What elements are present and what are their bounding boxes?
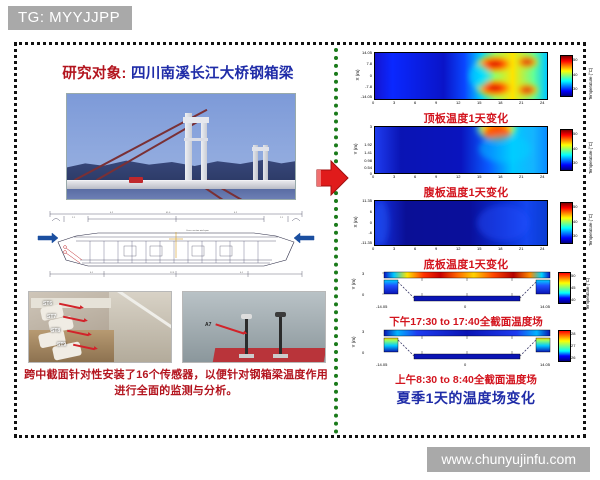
colorbar-tick: 30 — [573, 233, 577, 238]
colorbar-3 — [560, 202, 573, 244]
xtick: 6 — [414, 246, 416, 251]
page-title-prefix: 研究对象: — [62, 66, 126, 82]
xtick: 6 — [414, 174, 416, 179]
colorbar-tick: 26 — [571, 355, 575, 360]
colorbar-title: Temperature (°C) — [588, 214, 593, 246]
colorbar-cs1 — [558, 272, 571, 304]
ytick: 3 — [362, 329, 364, 334]
panel-divider — [334, 48, 338, 434]
xtick: 9 — [435, 100, 437, 105]
axis-label-y-cs1: Y (m) — [351, 279, 356, 290]
xtick: 24 — [540, 174, 544, 179]
heatmap-canvas-web-plate — [375, 127, 547, 173]
colorbar-tick: 40 — [571, 297, 575, 302]
xtick: 21 — [519, 100, 523, 105]
colorbar-tick: 50 — [573, 131, 577, 136]
ytick: 0 — [354, 171, 372, 176]
colorbar-tick: 50 — [571, 273, 575, 278]
colorbar-tick: 30 — [573, 86, 577, 91]
bridge-deck — [67, 180, 295, 189]
bridge-tower-far — [263, 145, 268, 185]
sensor-label-a7: A7 — [205, 322, 211, 328]
ytick: -14.05 — [354, 94, 372, 99]
colorbar-tick: 40 — [573, 219, 577, 224]
tower-crossbeam — [183, 117, 209, 123]
ytick: 0.98 — [354, 158, 372, 163]
xtick: 0 — [372, 174, 374, 179]
ytick: 6 — [352, 209, 372, 214]
bridge-tower-main — [201, 117, 207, 185]
cross-section-canvas-afternoon — [374, 270, 560, 312]
xtick: 0 — [372, 100, 374, 105]
sensor-head — [241, 314, 252, 319]
heatmap-canvas-bottom-plate — [375, 201, 547, 245]
svg-text:Cross section mid-span: Cross section mid-span — [186, 229, 210, 232]
xtick: 6 — [414, 100, 416, 105]
left-panel: 研究对象: 四川南溪长江大桥钢箱梁 — [20, 48, 332, 432]
xtick: 24 — [540, 100, 544, 105]
ytick: 0 — [354, 73, 372, 78]
watermark: www.chunyujinfu.com — [427, 447, 590, 472]
left-caption: 跨中截面针对性安装了16个传感器，以便针对钢箱梁温度作用进行全面的监测与分析。 — [24, 368, 328, 400]
ytick: 3 — [354, 124, 372, 129]
xtick: 14.05 — [540, 362, 550, 367]
xtick: 21 — [519, 174, 523, 179]
svg-text:4.2: 4.2 — [234, 212, 238, 214]
svg-text:41.0: 41.0 — [166, 212, 171, 214]
xtick: 0 — [464, 362, 466, 367]
box-girder-cross-section-drawing: 4.241.04.2 2.12.1 6.112.56.1 Cross secti… — [28, 208, 324, 280]
tower-crossbeam — [184, 138, 208, 141]
colorbar-tick: 28 — [571, 331, 575, 336]
sensor-label-st7: ST7 — [47, 314, 56, 320]
xtick: 14.05 — [540, 304, 550, 309]
xtick: 15 — [477, 246, 481, 251]
colorbar-1 — [560, 55, 573, 97]
ytick: 0 — [352, 220, 372, 225]
xtick: 18 — [498, 246, 502, 251]
xtick: 12 — [456, 174, 460, 179]
colorbar-tick: 27 — [571, 343, 575, 348]
heatmap-canvas-top-plate — [375, 53, 547, 99]
bridge-tower-far — [253, 145, 258, 185]
suspension-bridge-photo — [66, 93, 296, 200]
colorbar-title: Temperature (°C) — [585, 278, 590, 310]
sensor-installation-photo-deck: A7 — [182, 291, 326, 363]
colorbar-tick: 45 — [571, 285, 575, 290]
svg-text:4.2: 4.2 — [110, 212, 114, 214]
cross-section-caption-afternoon: 下午17:30 to 17:40全截面温度场 — [344, 314, 588, 329]
xtick: -14.05 — [376, 304, 387, 309]
ytick: -6 — [352, 230, 372, 235]
xtick: 0 — [464, 304, 466, 309]
svg-text:2.1: 2.1 — [72, 217, 76, 219]
cross-section-canvas-morning — [374, 328, 560, 370]
colorbar-title: Temperature (°C) — [588, 68, 593, 100]
page-title-main: 四川南溪长江大桥钢箱梁 — [131, 66, 294, 82]
ytick: 11.35 — [352, 198, 372, 203]
ytick: -11.35 — [352, 240, 372, 245]
colorbar-tick: 40 — [573, 72, 577, 77]
xtick: 21 — [519, 246, 523, 251]
ytick: -7.8 — [354, 84, 372, 89]
sensor-label-st6: ST6 — [43, 301, 52, 307]
colorbar-tick: 50 — [573, 204, 577, 209]
heatmap-caption-web-plate: 腹板温度1天变化 — [344, 184, 588, 200]
svg-text:12.5: 12.5 — [170, 272, 175, 274]
red-deck-surface — [213, 348, 326, 362]
xtick: 15 — [477, 100, 481, 105]
xtick: 12 — [456, 246, 460, 251]
cross-section-caption-morning: 上午8:30 to 8:40全截面温度场 — [344, 372, 588, 387]
sensor-head — [275, 312, 286, 317]
colorbar-tick: 50 — [573, 57, 577, 62]
axis-label-y-cs2: Y (m) — [351, 337, 356, 348]
xtick: 18 — [498, 100, 502, 105]
colorbar-tick: 30 — [573, 160, 577, 165]
xtick: 3 — [393, 246, 395, 251]
heatmap-caption-top-plate: 顶板温度1天变化 — [344, 110, 588, 126]
sensor-mast — [279, 316, 282, 358]
colorbar-title: Temperature (°C) — [588, 142, 593, 174]
ytick: 1.41 — [354, 150, 372, 155]
slide-root: TG: MYYJJPP 研究对象: 四川南溪长江大桥钢箱梁 — [0, 0, 600, 480]
xtick: -14.05 — [376, 362, 387, 367]
right-panel-title: 夏季1天的温度场变化 — [344, 388, 588, 408]
ytick: 7.8 — [354, 61, 372, 66]
sensor-label-st8: ST8 — [51, 328, 60, 334]
ytick: 0 — [362, 350, 364, 355]
interior-wall — [109, 292, 171, 362]
red-vehicle — [129, 177, 143, 183]
right-panel: X (m) 14.05 7.8 0 -7.8 -14.05 0 3 6 9 12… — [344, 48, 588, 432]
ytick: 1.92 — [354, 142, 372, 147]
xtick: 3 — [393, 100, 395, 105]
colorbar-cs2 — [558, 330, 571, 362]
mast-base — [273, 354, 288, 358]
xtick: 18 — [498, 174, 502, 179]
ytick: 0 — [362, 292, 364, 297]
page-title: 研究对象: 四川南溪长江大桥钢箱梁 — [28, 62, 328, 83]
xtick: 9 — [435, 246, 437, 251]
svg-text:6.1: 6.1 — [90, 272, 94, 274]
sensor-label-st9: ST9 — [57, 342, 66, 348]
bridge-tower-main — [185, 113, 192, 185]
xtick: 12 — [456, 100, 460, 105]
xtick: 3 — [393, 174, 395, 179]
tower-crossbeam — [252, 147, 269, 151]
xtick: 24 — [540, 246, 544, 251]
ytick: 0.54 — [354, 165, 372, 170]
ytick: 3 — [362, 271, 364, 276]
tg-badge: TG: MYYJJPP — [8, 6, 132, 30]
mast-base — [239, 354, 254, 358]
xtick: 15 — [477, 174, 481, 179]
sensor-mast — [245, 318, 248, 358]
colorbar-tick: 40 — [573, 146, 577, 151]
sensor-installation-photo-interior: ST6 ST7 ST8 ST9 — [28, 291, 172, 363]
svg-text:2.1: 2.1 — [280, 217, 284, 219]
colorbar-2 — [560, 129, 573, 171]
ytick: 14.05 — [354, 50, 372, 55]
xtick: 9 — [435, 174, 437, 179]
xtick: 0 — [372, 246, 374, 251]
svg-text:6.1: 6.1 — [240, 272, 244, 274]
